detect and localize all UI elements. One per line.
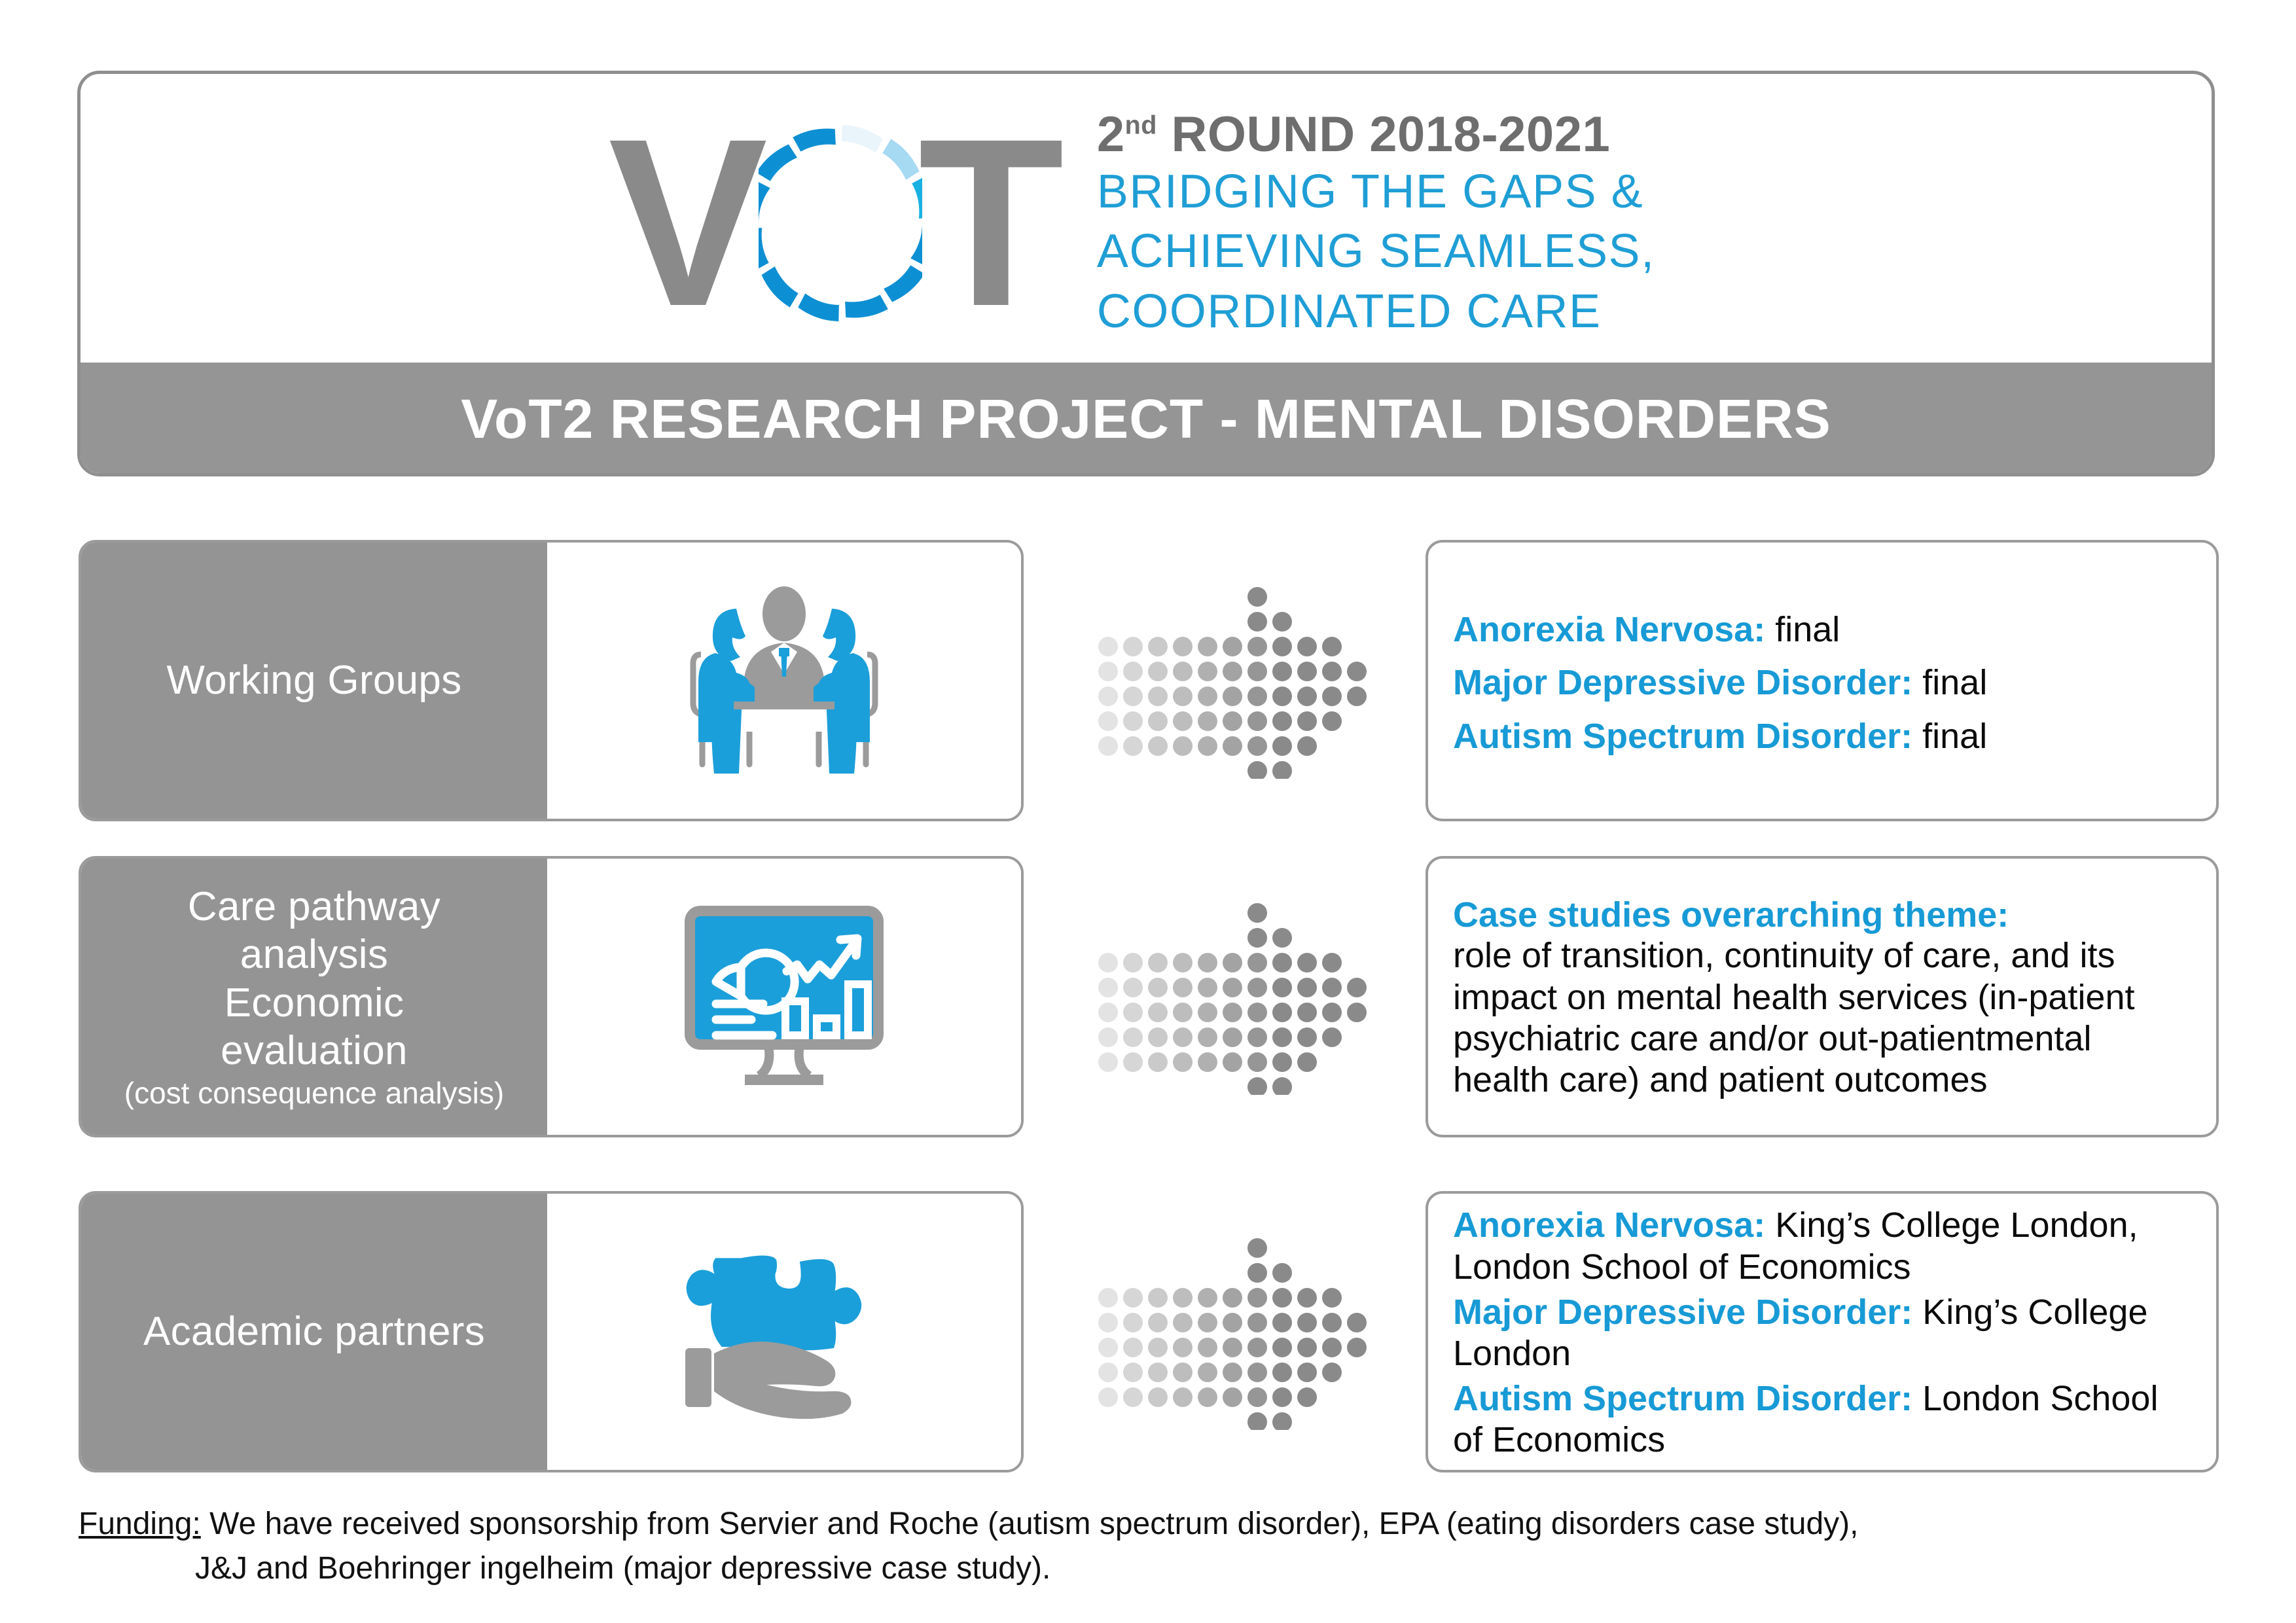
row-academic-partners: Academic partners (0, 1191, 2296, 1472)
logo-letter-v: V (608, 125, 762, 321)
content-entry: Anorexia Nervosa: King’s College London,… (1453, 1205, 2194, 1287)
left-card-care-pathway: Care pathway analysis Economic evaluatio… (79, 856, 1024, 1137)
row-care-pathway: Care pathway analysis Economic evaluatio… (0, 856, 2296, 1137)
dotted-arrow-right-icon (1094, 1234, 1369, 1430)
content-entry: Major Depressive Disorder: final (1453, 662, 2194, 704)
round-number: 2 (1097, 107, 1125, 162)
entry-label: Major Depressive Disorder: (1453, 1293, 1912, 1332)
row-sublabel: (cost consequence analysis) (124, 1076, 504, 1111)
left-card-working-groups: Working Groups (79, 540, 1024, 821)
round-line: 2nd ROUND 2018-2021 (1097, 109, 1655, 161)
arrow-wrap-2 (1077, 856, 1385, 1137)
icon-pane-care-pathway (547, 859, 1021, 1135)
entry-value: final (1912, 663, 1987, 702)
entry-value: final (1912, 717, 1987, 756)
content-card-working-groups: Anorexia Nervosa: final Major Depressive… (1426, 540, 2219, 821)
entry-label: Anorexia Nervosa: (1453, 610, 1765, 649)
dotted-arrow-right-icon (1094, 582, 1369, 779)
header-card: V (77, 71, 2215, 476)
vot-logo: V (608, 105, 1058, 341)
theme-heading: Case studies overarching theme: (1453, 895, 2194, 936)
row-label: Care pathway analysis Economic evaluatio… (188, 883, 440, 1075)
content-entry: Autism Spectrum Disorder: final (1453, 716, 2194, 757)
round-years: ROUND 2018-2021 (1157, 107, 1610, 162)
entry-label: Autism Spectrum Disorder: (1453, 1379, 1912, 1418)
funding-label: Funding: (79, 1507, 201, 1541)
funding-footer: Funding: We have received sponsorship fr… (79, 1502, 2042, 1591)
header-text-block: 2nd ROUND 2018-2021 BRIDGING THE GAPS & … (1097, 105, 1655, 341)
icon-pane-academic-partners (547, 1194, 1021, 1470)
entry-label: Autism Spectrum Disorder: (1453, 717, 1912, 756)
entry-value: final (1765, 610, 1840, 649)
funding-line-1: Funding: We have received sponsorship fr… (79, 1502, 2042, 1546)
entry-label: Anorexia Nervosa: (1453, 1205, 1765, 1245)
segmented-donut-ring-icon (759, 122, 922, 325)
row-label: Academic partners (143, 1308, 485, 1355)
content-card-academic-partners: Anorexia Nervosa: King’s College London,… (1426, 1191, 2219, 1472)
logo-letter-t: T (918, 125, 1059, 321)
icon-pane-working-groups (547, 543, 1021, 819)
row-label: Working Groups (166, 656, 461, 704)
header-branding-area: V (81, 74, 2212, 372)
content-card-care-pathway: Case studies overarching theme: role of … (1426, 856, 2219, 1137)
label-pane-academic-partners: Academic partners (81, 1194, 547, 1470)
entry-label: Major Depressive Disorder: (1453, 663, 1912, 702)
row-working-groups: Working Groups (0, 540, 2296, 821)
project-title-band: VoT2 RESEARCH PROJECT - MENTAL DISORDERS (79, 363, 2214, 475)
arrow-wrap-1 (1077, 540, 1385, 821)
arrow-wrap-3 (1077, 1191, 1385, 1472)
funding-text-1: We have received sponsorship from Servie… (201, 1507, 1859, 1541)
content-entry: Anorexia Nervosa: final (1453, 609, 2194, 651)
content-entry: Major Depressive Disorder: King’s Colleg… (1453, 1292, 2194, 1374)
left-card-academic-partners: Academic partners (79, 1191, 1024, 1472)
tagline-line-1: BRIDGING THE GAPS & (1097, 164, 1655, 221)
label-pane-care-pathway: Care pathway analysis Economic evaluatio… (81, 859, 547, 1135)
analytics-dashboard-icon (679, 902, 889, 1092)
round-ordinal-suffix: nd (1125, 111, 1157, 140)
meeting-people-icon (676, 582, 892, 779)
tagline-line-2: ACHIEVING SEAMLESS, (1097, 223, 1655, 281)
theme-body: role of transition, continuity of care, … (1453, 935, 2194, 1101)
funding-line-2: J&J and Boehringer ingelheim (major depr… (79, 1546, 2042, 1591)
hand-puzzle-piece-icon (676, 1243, 892, 1420)
dotted-arrow-right-icon (1094, 899, 1369, 1095)
brand-row: V (608, 105, 1655, 341)
tagline-line-3: COORDINATED CARE (1097, 283, 1655, 341)
label-pane-working-groups: Working Groups (81, 543, 547, 819)
content-entry: Autism Spectrum Disorder: London School … (1453, 1378, 2194, 1461)
page-title: VoT2 RESEARCH PROJECT - MENTAL DISORDERS (461, 387, 1831, 451)
